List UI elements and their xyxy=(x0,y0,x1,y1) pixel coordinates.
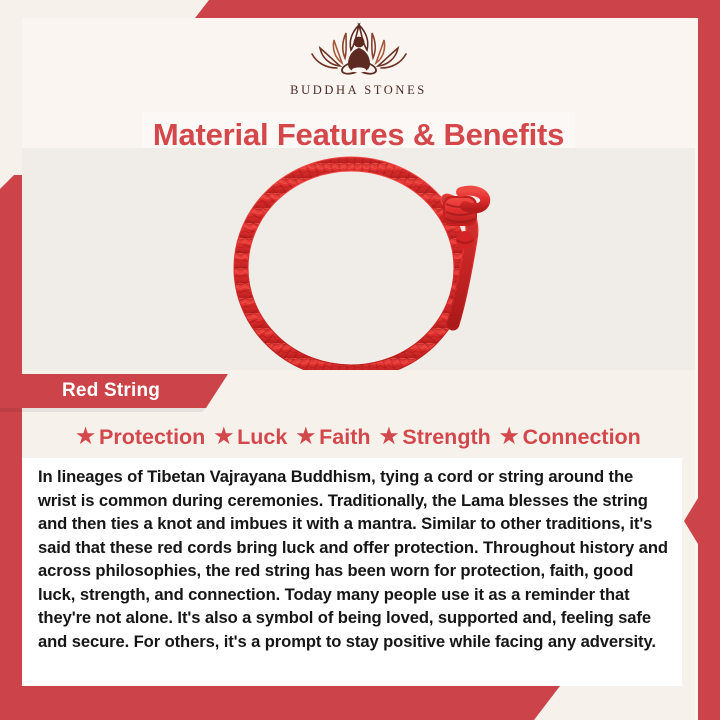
benefit-label: Connection xyxy=(523,425,641,450)
description-panel: In lineages of Tibetan Vajrayana Buddhis… xyxy=(22,458,682,686)
benefit-label: Protection xyxy=(99,425,205,450)
benefit-label: Luck xyxy=(237,425,287,450)
benefit-item-luck: ★ Luck xyxy=(214,425,287,450)
star-icon: ★ xyxy=(296,426,315,447)
benefit-label: Strength xyxy=(402,425,490,450)
product-label: Red String xyxy=(62,380,160,402)
infographic-page: BUDDHA STONES Material Features & Benefi… xyxy=(0,0,720,720)
decorative-bar-right xyxy=(698,18,720,720)
decorative-bar-left xyxy=(0,175,22,720)
decorative-notch-right xyxy=(684,498,698,544)
star-icon: ★ xyxy=(214,426,233,447)
benefit-item-strength: ★ Strength xyxy=(380,425,491,450)
product-label-banner: Red String xyxy=(0,374,228,408)
brand-wordmark: BUDDHA STONES xyxy=(290,83,427,98)
decorative-bar-top xyxy=(195,0,720,18)
product-image xyxy=(22,148,695,370)
benefit-item-protection: ★ Protection xyxy=(76,425,205,450)
brand-logo: BUDDHA STONES xyxy=(22,20,695,98)
header: BUDDHA STONES Material Features & Benefi… xyxy=(22,18,695,148)
label-banner-shadow xyxy=(0,408,206,412)
description-text: In lineages of Tibetan Vajrayana Buddhis… xyxy=(38,465,668,654)
benefit-label: Faith xyxy=(319,425,370,450)
benefits-row: ★ Protection ★ Luck ★ Faith ★ Strength ★… xyxy=(22,418,695,456)
benefit-item-connection: ★ Connection xyxy=(500,425,641,450)
star-icon: ★ xyxy=(380,426,399,447)
red-string-bracelet-illustration xyxy=(209,148,509,370)
star-icon: ★ xyxy=(76,426,95,447)
benefit-item-faith: ★ Faith xyxy=(296,425,370,450)
decorative-bar-bottom xyxy=(0,686,560,720)
lotus-meditation-icon xyxy=(304,20,414,82)
star-icon: ★ xyxy=(500,426,519,447)
